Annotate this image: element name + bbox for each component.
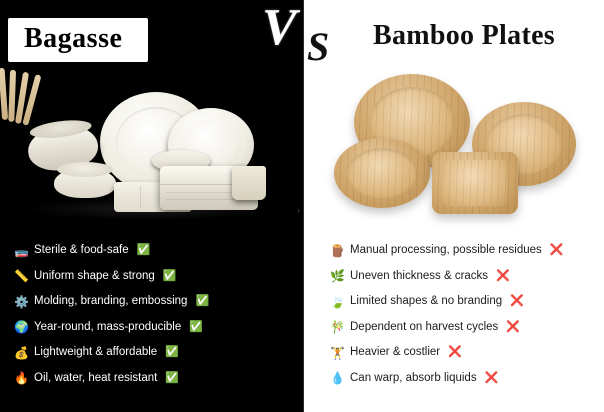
feature-lead-icon: 🌿 bbox=[330, 270, 344, 282]
check-icon: ✅ bbox=[163, 271, 177, 282]
cross-icon: ❌ bbox=[550, 245, 564, 256]
list-item: 📏 Uniform shape & strong ✅ bbox=[14, 264, 294, 290]
check-icon: ✅ bbox=[195, 296, 209, 307]
right-panel-bamboo: Bamboo Plates 🪵 bbox=[304, 0, 604, 412]
feature-text: Heavier & costlier bbox=[350, 346, 440, 359]
cross-icon: ❌ bbox=[485, 373, 499, 384]
list-item: 💧 Can warp, absorb liquids ❌ bbox=[330, 366, 598, 392]
fork-icon bbox=[8, 70, 16, 122]
feature-text: Molding, branding, embossing bbox=[34, 295, 187, 308]
list-item: ⚙️ Molding, branding, embossing ✅ bbox=[14, 289, 294, 315]
list-item: 🌍 Year-round, mass-producible ✅ bbox=[14, 315, 294, 341]
feature-lead-icon: 🪵 bbox=[330, 245, 344, 257]
plate-well-icon bbox=[347, 148, 417, 198]
feature-lead-icon: 🌍 bbox=[14, 321, 28, 333]
list-item: 🪵 Manual processing, possible residues ❌ bbox=[330, 238, 598, 264]
feature-lead-icon: 🎋 bbox=[330, 321, 344, 333]
feature-text: Limited shapes & no branding bbox=[350, 295, 502, 308]
left-title-plate: Bagasse bbox=[8, 18, 148, 62]
bagasse-product-photo bbox=[0, 70, 304, 235]
left-panel-bagasse: Bagasse bbox=[0, 0, 304, 412]
check-icon: ✅ bbox=[189, 322, 203, 333]
panel-divider bbox=[303, 0, 304, 412]
feature-lead-icon: 🔥 bbox=[14, 372, 28, 384]
feature-text: Manual processing, possible residues bbox=[350, 244, 542, 257]
feature-lead-icon: 🍃 bbox=[330, 296, 344, 308]
cross-icon: ❌ bbox=[496, 271, 510, 282]
feature-text: Sterile & food-safe bbox=[34, 244, 129, 257]
small-round-bamboo-plate-icon bbox=[334, 138, 430, 208]
product-shadow bbox=[24, 198, 274, 220]
cross-icon: ❌ bbox=[506, 322, 520, 333]
check-icon: ✅ bbox=[165, 373, 179, 384]
feature-text: Dependent on harvest cycles bbox=[350, 321, 498, 334]
wooden-cutlery-icon bbox=[0, 68, 49, 129]
feature-lead-icon: 🏋️ bbox=[330, 347, 344, 359]
list-item: 🍃 Limited shapes & no branding ❌ bbox=[330, 289, 598, 315]
left-feature-list: 🧫 Sterile & food-safe ✅ 📏 Uniform shape … bbox=[14, 238, 294, 391]
cup-icon bbox=[232, 166, 266, 200]
square-bamboo-plate-icon bbox=[432, 152, 518, 214]
list-item: 🧫 Sterile & food-safe ✅ bbox=[14, 238, 294, 264]
feature-text: Can warp, absorb liquids bbox=[350, 372, 477, 385]
list-item: 🔥 Oil, water, heat resistant ✅ bbox=[14, 366, 294, 392]
feature-text: Year-round, mass-producible bbox=[34, 321, 181, 334]
left-title: Bagasse bbox=[24, 23, 122, 54]
cross-icon: ❌ bbox=[510, 296, 524, 307]
comparison-graphic: Bagasse bbox=[0, 0, 604, 412]
feature-text: Lightweight & affordable bbox=[34, 346, 157, 359]
feature-lead-icon: 📏 bbox=[14, 270, 28, 282]
right-title: Bamboo Plates bbox=[373, 20, 555, 51]
feature-lead-icon: 💰 bbox=[14, 347, 28, 359]
cross-icon: ❌ bbox=[448, 347, 462, 358]
stray-mark: › bbox=[297, 205, 300, 215]
feature-text: Uniform shape & strong bbox=[34, 270, 155, 283]
check-icon: ✅ bbox=[165, 347, 179, 358]
feature-lead-icon: ⚙️ bbox=[14, 296, 28, 308]
feature-text: Uneven thickness & cracks bbox=[350, 270, 488, 283]
feature-text: Oil, water, heat resistant bbox=[34, 372, 157, 385]
feature-lead-icon: 🧫 bbox=[14, 245, 28, 257]
small-bowl-icon bbox=[54, 168, 116, 198]
small-bowl-rim-icon bbox=[57, 162, 113, 177]
plate-well-icon bbox=[443, 160, 507, 206]
list-item: 🌿 Uneven thickness & cracks ❌ bbox=[330, 264, 598, 290]
check-icon: ✅ bbox=[137, 245, 151, 256]
fork-icon bbox=[0, 68, 8, 120]
right-title-block: Bamboo Plates bbox=[332, 20, 596, 52]
feature-lead-icon: 💧 bbox=[330, 372, 344, 384]
list-item: 💰 Lightweight & affordable ✅ bbox=[14, 340, 294, 366]
bamboo-product-photo bbox=[304, 70, 604, 235]
list-item: 🎋 Dependent on harvest cycles ❌ bbox=[330, 315, 598, 341]
right-feature-list: 🪵 Manual processing, possible residues ❌… bbox=[330, 238, 598, 391]
list-item: 🏋️ Heavier & costlier ❌ bbox=[330, 340, 598, 366]
